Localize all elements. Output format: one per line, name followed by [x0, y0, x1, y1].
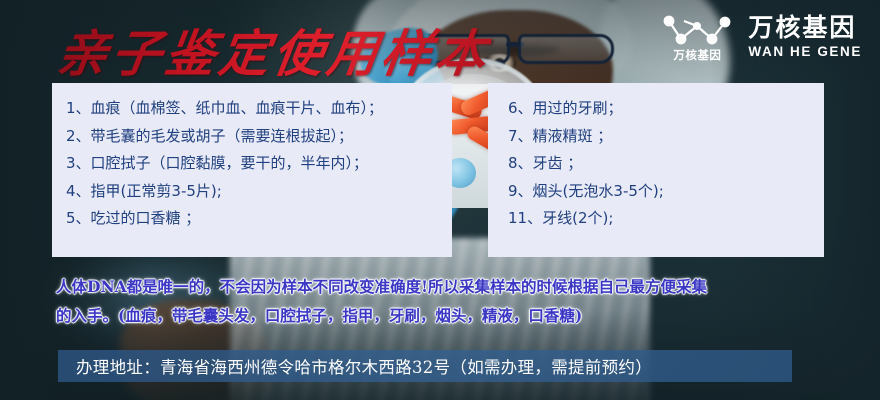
- list-item: 4、指甲(正常剪3-5片);: [52, 178, 452, 206]
- address-banner: 办理地址：青海省海西州德令哈市格尔木西路32号（如需办理，需提前预约）: [58, 350, 792, 382]
- sample-list-right-panel: 6、用过的牙刷； 7、精液精斑 ； 8、牙齿 ； 9、烟头(无泡水3-5个); …: [488, 83, 824, 257]
- brand-logo[interactable]: 万核基因 万核基因 WAN HE GENE: [660, 12, 862, 62]
- description-line-2: 的入手。(血痕，带毛囊头发，口腔拭子，指甲，牙刷，烟头，精液，口香糖): [56, 301, 846, 330]
- list-item: 9、烟头(无泡水3-5个);: [488, 178, 824, 206]
- logo-mark-caption: 万核基因: [660, 47, 734, 63]
- description-paragraph: 人体DNA都是唯一的，不会因为样本不同改变准确度!所以采集样本的时候根据自己最方…: [56, 272, 846, 330]
- page-title: 亲子鉴定使用样本: [53, 14, 495, 86]
- sample-list-left: 1、血痕（血棉签、纸巾血、血痕干片、血布）； 2、带毛囊的毛发或胡子（需要连根拔…: [52, 95, 452, 233]
- list-item: 3、口腔拭子（口腔黏膜，要干的，半年内）；: [52, 150, 452, 178]
- list-item: 1、血痕（血棉签、纸巾血、血痕干片、血布）；: [52, 95, 452, 123]
- dna-molecule-icon: 万核基因: [660, 12, 734, 62]
- list-item: 6、用过的牙刷；: [488, 95, 824, 123]
- description-line-1: 人体DNA都是唯一的，不会因为样本不同改变准确度!所以采集样本的时候根据自己最方…: [56, 277, 707, 296]
- sample-list-right: 6、用过的牙刷； 7、精液精斑 ； 8、牙齿 ； 9、烟头(无泡水3-5个); …: [488, 95, 824, 233]
- list-item: 11、牙线(2个);: [488, 205, 824, 233]
- sample-list-left-panel: 1、血痕（血棉签、纸巾血、血痕干片、血布）； 2、带毛囊的毛发或胡子（需要连根拔…: [52, 83, 452, 257]
- brand-name-cn: 万核基因: [748, 15, 862, 40]
- poster-canvas: 亲子鉴定使用样本 亲子鉴定使用样本 万核: [0, 0, 880, 400]
- address-text: 办理地址：青海省海西州德令哈市格尔木西路32号（如需办理，需提前预约）: [58, 354, 652, 378]
- list-item: 7、精液精斑 ；: [488, 123, 824, 151]
- list-item: 8、牙齿 ；: [488, 150, 824, 178]
- brand-name-en: WAN HE GENE: [748, 45, 862, 59]
- list-item: 2、带毛囊的毛发或胡子（需要连根拔起）；: [52, 123, 452, 151]
- list-item: 5、吃过的口香糖 ；: [52, 205, 452, 233]
